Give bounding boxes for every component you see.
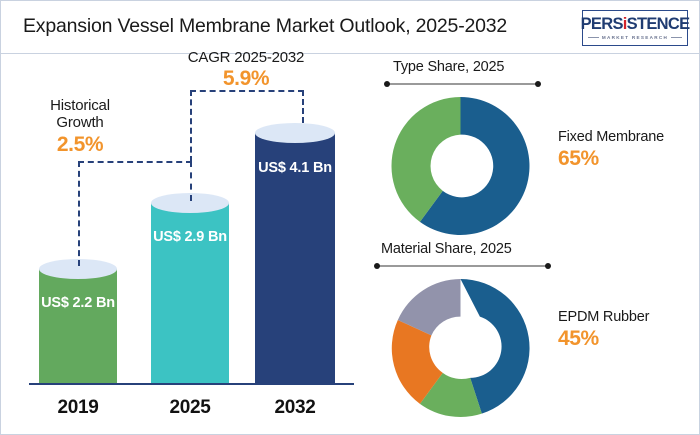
- type-share-title: Type Share, 2025: [393, 59, 504, 75]
- type-share-legend: Fixed Membrane 65%: [558, 129, 664, 171]
- callout-cagr-value: 5.9%: [161, 66, 331, 92]
- logo-dash-left-icon: [588, 37, 599, 38]
- material-share-donut: [383, 273, 538, 423]
- bar-2032-value: US$ 4.1 Bn: [255, 160, 335, 177]
- callout-hg-value: 2.5%: [36, 132, 124, 158]
- bar-label-2019-text: 2019: [57, 397, 98, 418]
- bar-2032-value-text: US$ 4.1 Bn: [258, 160, 332, 176]
- callout-cagr-label: CAGR 2025-2032: [161, 49, 331, 66]
- bar-2019: US$ 2.2 Bn: [39, 259, 117, 383]
- bar-2019-value: US$ 2.2 Bn: [39, 295, 117, 312]
- material-share-legend-value: 45%: [558, 327, 649, 351]
- logo-dash-right-icon: [671, 37, 682, 38]
- logo-subtitle: MARKET RESEARCH: [602, 35, 668, 40]
- material-share-panel: Material Share, 2025 EPDM Rubber 45%: [373, 241, 693, 426]
- logo-word-part1: PERS: [581, 15, 623, 33]
- header-divider: [1, 53, 700, 54]
- bar-label-2032-text: 2032: [274, 397, 315, 418]
- type-share-title-rule: [385, 83, 540, 85]
- callout-hg-label-line1: Historical: [36, 97, 124, 114]
- bar-2019-value-text: US$ 2.2 Bn: [41, 295, 115, 311]
- type-share-legend-name: Fixed Membrane: [558, 129, 664, 145]
- bar-label-2025: 2025: [151, 397, 229, 419]
- material-share-legend: EPDM Rubber 45%: [558, 309, 649, 351]
- callout-hg-label-line2: Growth: [36, 114, 124, 131]
- bar-2025: US$ 2.9 Bn: [151, 193, 229, 383]
- connector-cagr-right-segment: [302, 90, 304, 123]
- bar-chart-panel: US$ 2.2 Bn 2019 US$ 2.9 Bn 2025 US$ 4.1 …: [11, 57, 361, 432]
- callout-cagr: CAGR 2025-2032 5.9%: [161, 49, 331, 93]
- bar-2025-value: US$ 2.9 Bn: [151, 229, 229, 246]
- connector-hg-right-segment: [190, 161, 192, 201]
- type-share-legend-value: 65%: [558, 147, 664, 171]
- bar-2032-cap: [255, 123, 335, 143]
- material-share-title-rule: [375, 265, 550, 267]
- type-share-panel: Type Share, 2025 Fixed Membrane 65%: [373, 59, 693, 239]
- logo-word-part2: STENCE: [627, 15, 690, 33]
- bar-2032: US$ 4.1 Bn: [255, 123, 335, 383]
- brand-logo: PERSiSTENCE MARKET RESEARCH: [582, 10, 688, 46]
- bar-label-2032: 2032: [255, 397, 335, 419]
- callout-historical-growth: Historical Growth 2.5%: [36, 97, 124, 158]
- logo-subtitle-row: MARKET RESEARCH: [588, 35, 682, 40]
- connector-hg-top-segment: [78, 161, 192, 163]
- material-share-title: Material Share, 2025: [381, 241, 512, 257]
- type-share-donut: [383, 91, 538, 241]
- connector-hg-left-segment: [78, 161, 80, 266]
- connector-cagr-left-segment: [190, 90, 192, 162]
- bar-2025-value-text: US$ 2.9 Bn: [153, 229, 227, 245]
- page-title: Expansion Vessel Membrane Market Outlook…: [23, 15, 507, 38]
- logo-wordmark: PERSiSTENCE: [581, 16, 690, 33]
- infographic-canvas: Expansion Vessel Membrane Market Outlook…: [0, 0, 700, 435]
- bar-label-2019: 2019: [39, 397, 117, 419]
- bar-2019-body: [39, 269, 117, 383]
- material-share-legend-name: EPDM Rubber: [558, 309, 649, 325]
- header: Expansion Vessel Membrane Market Outlook…: [1, 1, 700, 53]
- bar-label-2025-text: 2025: [169, 397, 210, 418]
